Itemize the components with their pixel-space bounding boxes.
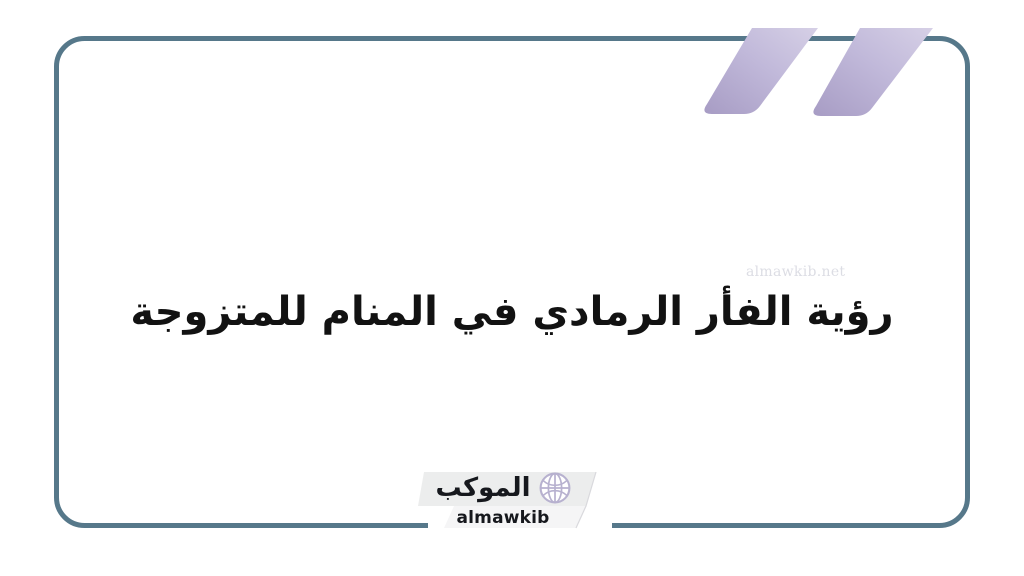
watermark-text: almawkib.net (746, 264, 845, 280)
logo-arabic-wordmark: الموكب (435, 475, 530, 501)
page-title-text: رؤية الفأر الرمادي في المنام للمتزوجة (120, 286, 904, 339)
quote-marks-decoration (690, 28, 950, 118)
page-title: رؤية الفأر الرمادي في المنام للمتزوجة (0, 286, 1024, 339)
card-canvas: almawkib.net رؤية الفأر الرمادي في المنا… (0, 0, 1024, 576)
logo-latin-wordmark: almawkib (418, 508, 588, 528)
globe-icon (539, 472, 571, 504)
brand-logo[interactable]: الموكب almawkib (418, 468, 618, 530)
quote-bar-left (704, 28, 818, 114)
logo-row: الموكب (418, 468, 588, 508)
quote-bar-right (813, 28, 933, 116)
